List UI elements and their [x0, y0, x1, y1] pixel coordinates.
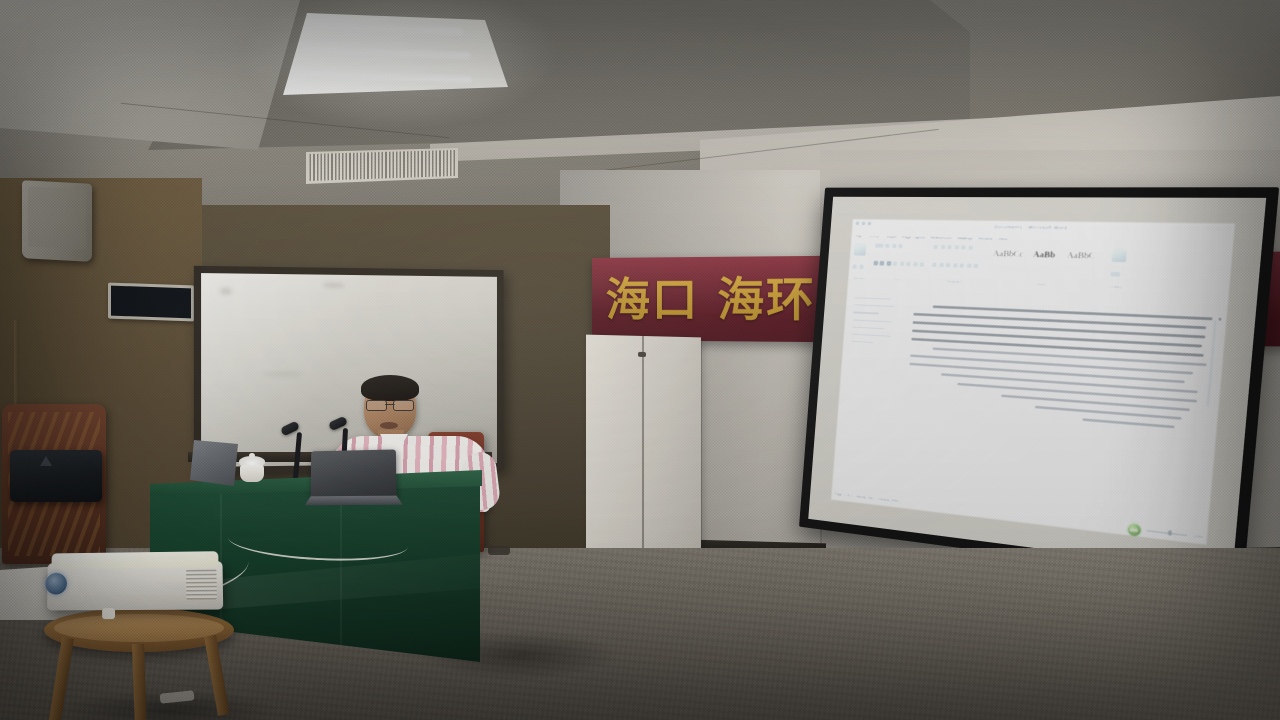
superscript-icon[interactable]	[906, 261, 912, 266]
presentation-room-photo: 海口 海环院 环 境 Document1 -	[0, 0, 1280, 720]
save-icon[interactable]	[855, 221, 859, 225]
style-name: No Spacing	[1026, 261, 1061, 267]
style-gallery[interactable]: AaBbCc Normal AaBb No Spacing AaBbC Head…	[986, 245, 1104, 272]
word-title: Document1 - Microsoft Word	[994, 224, 1068, 230]
strikethrough-icon[interactable]	[892, 260, 897, 265]
sort-icon[interactable]	[968, 245, 974, 250]
underline-icon[interactable]	[886, 260, 891, 265]
style-chip-normal[interactable]: AaBbCc Normal	[991, 249, 1026, 267]
redo-icon[interactable]	[867, 221, 871, 225]
numbered-list-icon[interactable]	[940, 244, 946, 249]
status-page: Page: 1 of 2	[834, 492, 852, 498]
status-words: Words: 430	[856, 494, 874, 500]
door-knob[interactable]	[638, 352, 646, 357]
minimize-icon[interactable]	[1204, 225, 1212, 231]
ribbon-group-label: Styles	[985, 281, 1101, 289]
close-icon[interactable]	[1224, 226, 1232, 232]
shrink-font-icon[interactable]	[898, 244, 904, 249]
paste-icon[interactable]	[853, 243, 867, 257]
subscript-icon[interactable]	[899, 261, 905, 266]
line-spacing-icon[interactable]	[959, 262, 965, 267]
hvac-vent	[306, 148, 458, 184]
presenter-mouth	[380, 422, 398, 429]
find-icon[interactable]	[1111, 248, 1128, 263]
tab-page-layout[interactable]: Page Layout	[902, 234, 926, 240]
style-name: Normal	[991, 260, 1025, 266]
window-buttons[interactable]	[1204, 225, 1233, 231]
tab-references[interactable]: References	[930, 234, 952, 240]
presenter-laptop[interactable]	[311, 449, 397, 510]
ribbon-group-clipboard[interactable]: Clipboard	[851, 243, 871, 281]
font-size-dropdown[interactable]	[885, 243, 890, 248]
tab-file[interactable]: File	[855, 233, 862, 238]
ribbon-group-paragraph[interactable]: Paragraph	[930, 244, 984, 285]
quick-access-toolbar[interactable]	[855, 221, 871, 225]
tab-mailings[interactable]: Mailings	[957, 235, 973, 241]
ribbon-group-label: Clipboard	[851, 276, 865, 281]
borders-icon[interactable]	[973, 263, 979, 268]
decrease-indent-icon[interactable]	[954, 245, 960, 250]
zoom-slider[interactable]	[1145, 530, 1187, 537]
style-name: Heading 1	[1062, 262, 1097, 268]
tab-view[interactable]: View	[998, 235, 1008, 241]
projection-screen: Document1 - Microsoft Word File Home Ins…	[799, 187, 1279, 585]
projection-screen-matte: Document1 - Microsoft Word File Home Ins…	[808, 197, 1266, 574]
ribbon-group-styles[interactable]: AaBbCc Normal AaBb No Spacing AaBbC Head…	[985, 245, 1109, 289]
style-sample: AaBb	[1027, 249, 1062, 261]
door-seam	[642, 336, 644, 551]
ribbon-group-label: Font	[872, 277, 924, 283]
projector-foot	[102, 608, 115, 619]
italic-icon[interactable]	[879, 260, 884, 265]
tab-insert[interactable]: Insert	[886, 234, 897, 239]
document-scrollbar[interactable]	[1194, 310, 1219, 521]
ribbon-group-font[interactable]: Font	[872, 243, 931, 283]
shading-icon[interactable]	[966, 262, 972, 267]
style-chip-no-spacing[interactable]: AaBb No Spacing	[1026, 249, 1062, 267]
align-center-icon[interactable]	[938, 262, 944, 267]
style-chip-heading-1[interactable]: AaBbC Heading 1	[1062, 250, 1098, 269]
wall-control-panel	[108, 282, 194, 321]
tray-security-icon[interactable]: 360	[1127, 522, 1141, 536]
bold-icon[interactable]	[873, 260, 878, 265]
floor-object	[488, 546, 510, 555]
status-language: Chinese (PRC)	[877, 497, 900, 504]
wall-speaker	[22, 180, 92, 262]
status-zoom: 115%	[1192, 534, 1203, 540]
font-family-dropdown[interactable]	[874, 243, 883, 248]
bullet-list-icon[interactable]	[933, 244, 939, 249]
lidded-teacup	[238, 456, 266, 482]
replace-icon[interactable]	[1110, 271, 1121, 277]
projector-top	[52, 551, 219, 569]
text-highlight-icon[interactable]	[912, 261, 918, 266]
laptop-screen[interactable]	[311, 449, 397, 498]
ribbon-group-label: Paragraph	[930, 279, 977, 285]
multilevel-list-icon[interactable]	[947, 245, 953, 250]
style-sample: AaBbC	[1063, 250, 1099, 262]
projector-vents	[186, 569, 217, 599]
cut-icon[interactable]	[852, 263, 857, 268]
projector	[47, 551, 223, 614]
justify-icon[interactable]	[952, 262, 958, 267]
presenter-hair	[361, 375, 419, 401]
grow-font-icon[interactable]	[891, 243, 896, 248]
increase-indent-icon[interactable]	[961, 245, 967, 250]
presenter-glasses	[366, 400, 414, 409]
copy-icon[interactable]	[858, 264, 863, 269]
document-page[interactable]	[890, 294, 1224, 526]
ceiling-light-panel	[283, 13, 508, 95]
style-sample: AaBbCc	[991, 249, 1025, 261]
ribbon-group-label: Editing	[1109, 285, 1125, 290]
laptop-bag	[10, 450, 102, 502]
wall-cabinet-doors[interactable]	[586, 335, 701, 553]
ribbon-group-editing[interactable]: Editing	[1109, 248, 1132, 290]
ceiling-soffit-left	[0, 0, 300, 150]
font-color-icon[interactable]	[919, 261, 925, 266]
laptop-keyboard[interactable]	[305, 496, 403, 506]
tab-home[interactable]: Home	[867, 233, 882, 238]
second-laptop[interactable]	[190, 440, 238, 486]
word-application-window[interactable]: Document1 - Microsoft Word File Home Ins…	[831, 219, 1235, 545]
undo-icon[interactable]	[861, 221, 865, 225]
align-right-icon[interactable]	[945, 262, 951, 267]
wooden-stool	[44, 608, 234, 720]
teacup-body	[240, 465, 264, 482]
maximize-icon[interactable]	[1214, 226, 1222, 232]
projection-screen-frame: Document1 - Microsoft Word File Home Ins…	[799, 187, 1279, 585]
align-left-icon[interactable]	[932, 262, 938, 267]
hvac-vent-grille	[306, 148, 458, 184]
tab-review[interactable]: Review	[978, 235, 993, 241]
